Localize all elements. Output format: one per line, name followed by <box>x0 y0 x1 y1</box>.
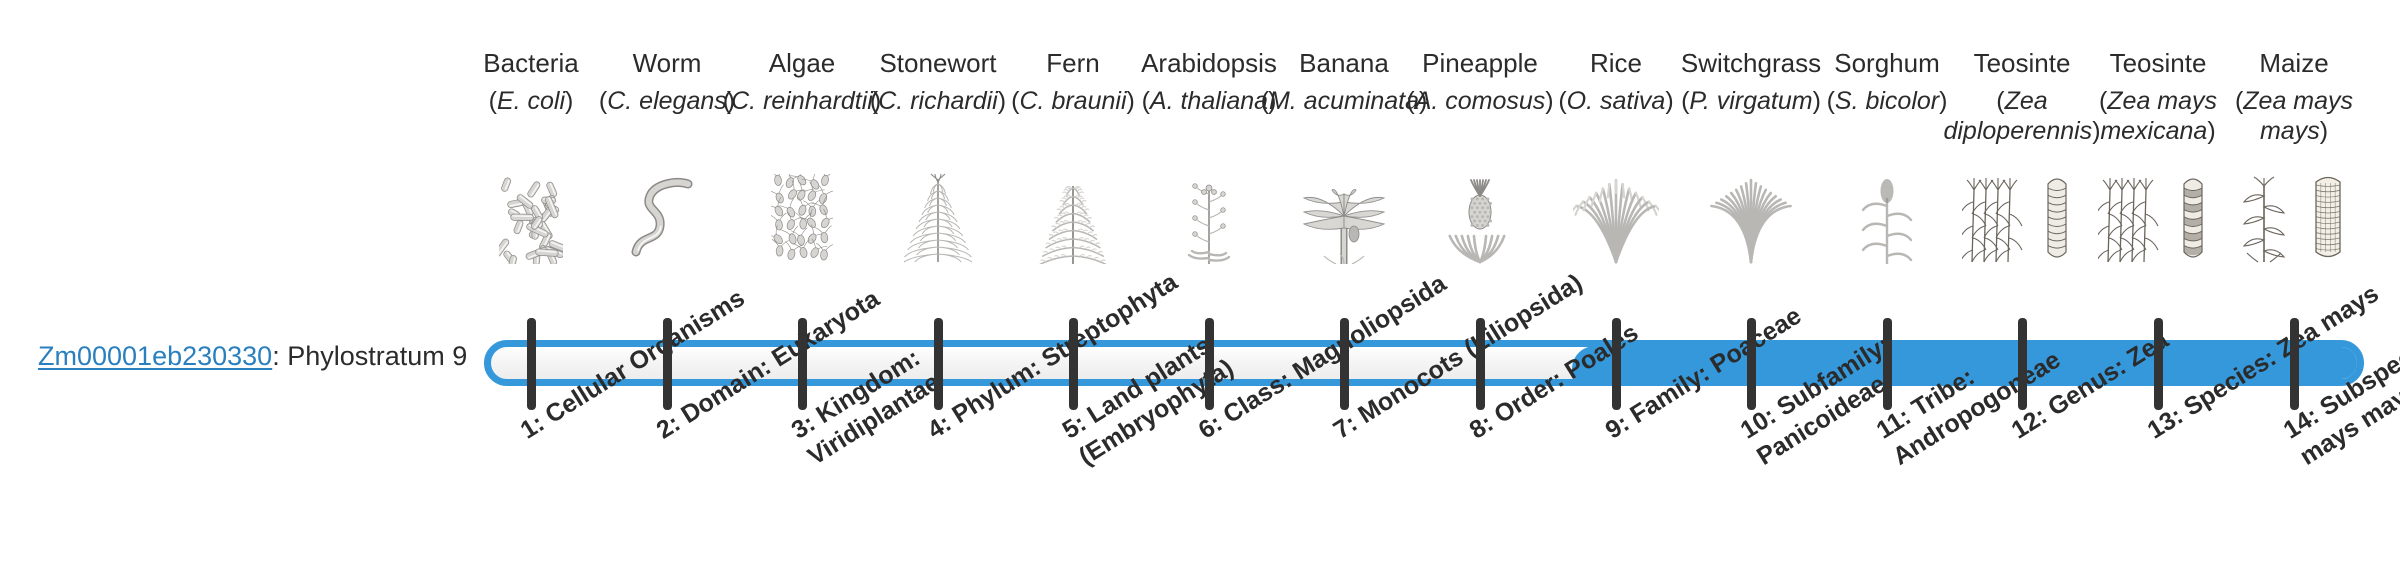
arabidopsis-illustration <box>1141 172 1277 264</box>
timeline-tick[interactable] <box>2290 318 2299 410</box>
taxonomic-rank-number: 12: <box>2007 402 2052 445</box>
species-common-name: Maize <box>2212 48 2376 79</box>
timeline-tick[interactable] <box>1612 318 1621 410</box>
timeline-tick[interactable] <box>1069 318 1078 410</box>
timeline-tick[interactable] <box>1883 318 1892 410</box>
gene-phylostratum-label: Zm00001eb230330: Phylostratum 9 <box>38 340 467 372</box>
species-scientific-name: (Zea mays mays) <box>2210 86 2378 146</box>
nematode-worm-illustration <box>599 172 735 264</box>
timeline-tick[interactable] <box>934 318 943 410</box>
sorghum-illustration <box>1819 172 1955 264</box>
stonewort-illustration <box>870 172 1006 264</box>
phylostratum-timeline: Zm00001eb230330: Phylostratum 9 Bacteria… <box>0 0 2400 580</box>
gene-label-separator: : <box>272 341 287 371</box>
rice-plant-illustration <box>1548 172 1684 264</box>
taxonomic-rank-number: 1: <box>516 409 550 445</box>
timeline-tick[interactable] <box>2018 318 2027 410</box>
maize-illustration <box>2226 172 2362 264</box>
taxonomic-rank-number: 7: <box>1329 409 1363 445</box>
bacteria-illustration <box>463 172 599 264</box>
timeline-tick[interactable] <box>1205 318 1214 410</box>
gene-id-link[interactable]: Zm00001eb230330 <box>38 341 272 371</box>
timeline-tick[interactable] <box>2154 318 2163 410</box>
teosinte-diploperennis-illustration <box>1954 172 2090 264</box>
switchgrass-illustration <box>1683 172 1819 264</box>
teosinte-mexicana-illustration <box>2090 172 2226 264</box>
timeline-tick[interactable] <box>1747 318 1756 410</box>
timeline-tick[interactable] <box>798 318 807 410</box>
pineapple-plant-illustration <box>1412 172 1548 264</box>
taxonomic-rank-number: 2: <box>652 409 686 445</box>
timeline-tick[interactable] <box>1476 318 1485 410</box>
taxonomic-rank-number: 8: <box>1465 409 1499 445</box>
timeline-tick[interactable] <box>663 318 672 410</box>
taxonomic-rank-number: 4: <box>923 409 957 445</box>
algae-cells-illustration <box>734 172 870 264</box>
taxonomic-rank-number: 9: <box>1601 409 1635 445</box>
taxonomic-rank-number: 6: <box>1194 409 1228 445</box>
fern-illustration <box>1005 172 1141 264</box>
banana-plant-illustration <box>1276 172 1412 264</box>
taxonomic-rank-number: 13: <box>2143 402 2188 445</box>
timeline-tick[interactable] <box>527 318 536 410</box>
phylostratum-value: Phylostratum 9 <box>287 341 467 371</box>
timeline-tick[interactable] <box>1340 318 1349 410</box>
